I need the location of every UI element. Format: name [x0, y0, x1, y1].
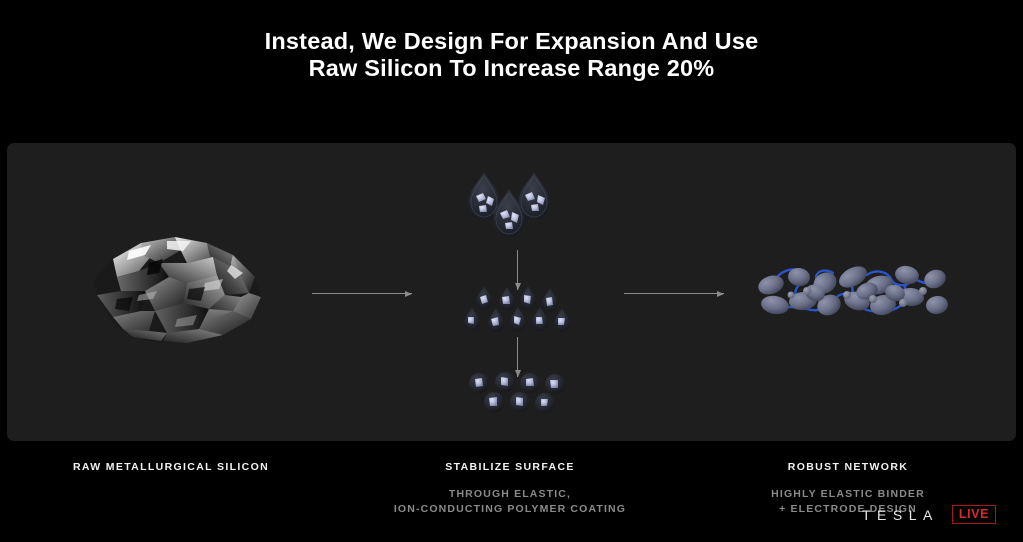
page-title: Instead, We Design For Expansion And Use… — [0, 28, 1023, 82]
caption-sub-line-1: THROUGH ELASTIC, — [449, 488, 571, 500]
title-line-2: Raw Silicon To Increase Range 20% — [0, 55, 1023, 82]
arrow-down-droplets-particles — [513, 250, 523, 290]
tesla-live-watermark: TESLA LIVE — [862, 505, 996, 524]
coated-droplets-graphic — [462, 170, 572, 240]
live-badge: LIVE — [952, 505, 996, 524]
coated-particle-rows-graphic — [460, 285, 575, 333]
caption-title-robust-network: ROBUST NETWORK — [693, 460, 1003, 474]
bonded-network-graphic — [755, 261, 951, 323]
arrow-head — [717, 291, 724, 297]
arrow-right-stage1-stage2 — [312, 289, 412, 299]
caption-sub-line-2: ION-CONDUCTING POLYMER COATING — [355, 502, 665, 517]
caption-stabilize-surface: STABILIZE SURFACE THROUGH ELASTIC, ION-C… — [355, 460, 665, 517]
arrow-shaft — [624, 293, 724, 294]
arrow-shaft — [312, 293, 412, 294]
arrow-down-particles-spheres — [513, 337, 523, 377]
diagram-panel — [7, 143, 1016, 441]
title-line-1: Instead, We Design For Expansion And Use — [265, 28, 759, 54]
arrow-right-stage2-stage3 — [624, 289, 724, 299]
caption-title-stabilize-surface: STABILIZE SURFACE — [355, 460, 665, 474]
raw-silicon-rock-graphic — [83, 233, 273, 353]
caption-title-raw-silicon: RAW METALLURGICAL SILICON — [16, 460, 326, 474]
tesla-wordmark: TESLA — [862, 507, 939, 523]
coated-spheres-graphic — [465, 372, 573, 414]
caption-sub-line-1: HIGHLY ELASTIC BINDER — [771, 488, 925, 500]
arrow-head — [405, 291, 412, 297]
caption-raw-silicon: RAW METALLURGICAL SILICON — [16, 460, 326, 474]
caption-sub-stabilize-surface: THROUGH ELASTIC, ION-CONDUCTING POLYMER … — [355, 487, 665, 517]
